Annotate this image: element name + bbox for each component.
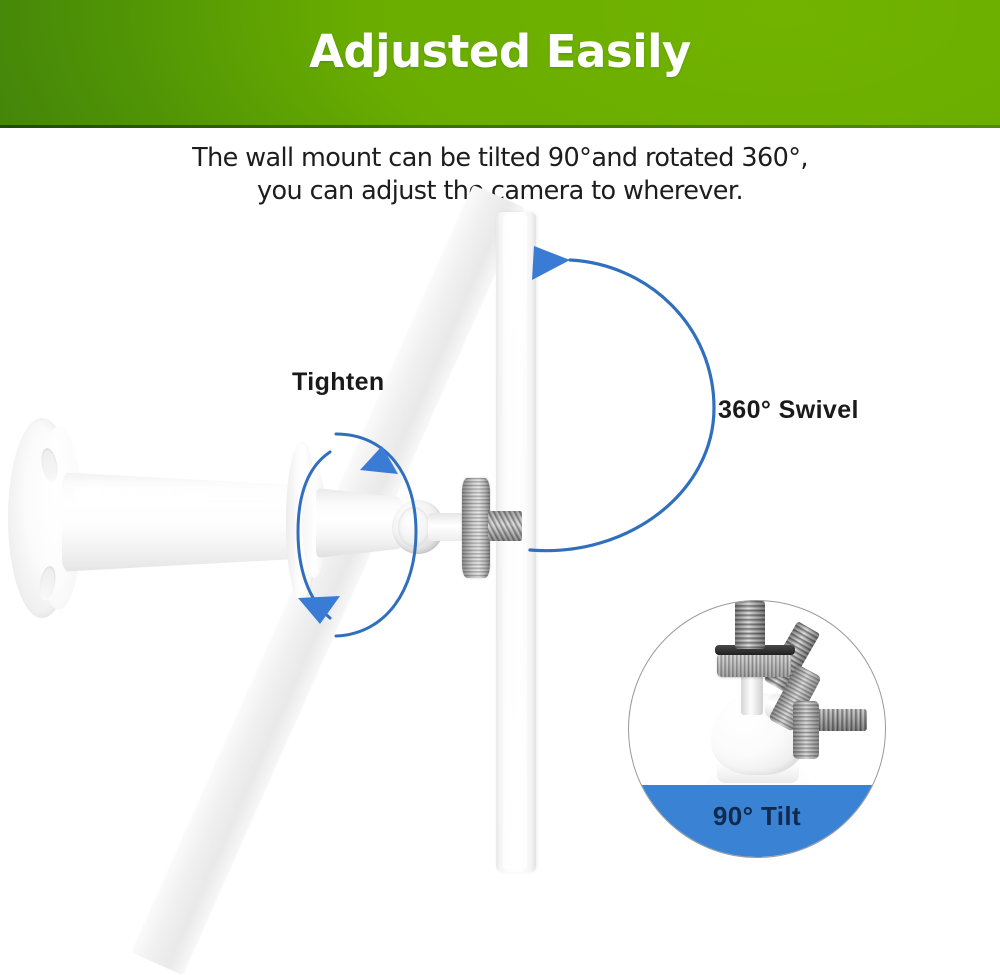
swivel-label: 360° Swivel	[718, 396, 859, 425]
subtitle-line-1: The wall mount can be tilted 90°and rota…	[0, 142, 1000, 175]
bracket-arm	[62, 468, 300, 576]
threaded-bolt	[488, 511, 522, 541]
page-title: Adjusted Easily	[0, 29, 1000, 74]
mini-bolt-top	[735, 601, 765, 649]
tighten-rotation-arrow	[290, 412, 430, 652]
bracket-arm-highlight	[74, 486, 284, 502]
mini-knob-lower	[793, 701, 819, 759]
tighten-label: Tighten	[292, 368, 385, 397]
tilt-inset-circle: 90° Tilt	[628, 600, 886, 858]
header-banner: Adjusted Easily	[0, 0, 1000, 128]
mini-knurled-ring	[717, 653, 791, 677]
knurled-thumbscrew	[462, 478, 490, 578]
mini-stem	[741, 671, 763, 715]
tilt-label-band: 90° Tilt	[629, 785, 885, 857]
product-illustration-scene: 360° Swivel Tighten	[0, 200, 1000, 899]
wall-mount-bracket	[0, 200, 560, 670]
tilt-label: 90° Tilt	[629, 801, 885, 832]
